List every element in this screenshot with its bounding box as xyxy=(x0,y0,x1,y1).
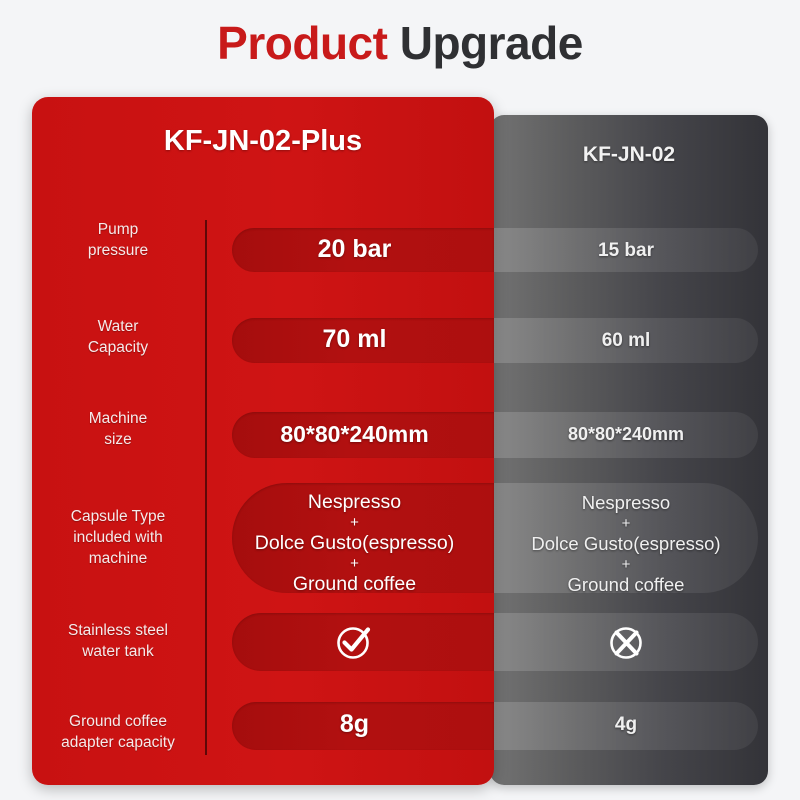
row-value-new: 80*80*240mm xyxy=(215,421,494,448)
row-value-new: Nespresso + Dolce Gusto(espresso) + Grou… xyxy=(215,490,494,596)
page-title: Product Upgrade xyxy=(0,16,800,70)
row-label: Machine size xyxy=(34,408,202,450)
label-column-divider xyxy=(205,220,207,755)
row-label: Stainless steel water tank xyxy=(34,620,202,662)
row-label: Pump pressure xyxy=(34,219,202,261)
old-model-title: KF-JN-02 xyxy=(490,143,768,167)
row-value-old: 15 bar xyxy=(494,240,758,262)
page-title-rest: Upgrade xyxy=(387,17,582,69)
row-label: Ground coffee adapter capacity xyxy=(34,711,202,753)
row-label: Capsule Type included with machine xyxy=(34,506,202,569)
row-value-new: 70 ml xyxy=(215,325,494,354)
row-value-old: Nespresso + Dolce Gusto(espresso) + Grou… xyxy=(492,491,760,597)
new-model-title: KF-JN-02-Plus xyxy=(32,125,494,158)
product-comparison-infographic: Product Upgrade KF-JN-02 KF-JN-02-Plus P… xyxy=(0,0,800,800)
row-value-new: 8g xyxy=(215,710,494,739)
cross-circle-icon xyxy=(604,620,648,664)
page-title-highlight: Product xyxy=(217,17,387,69)
row-value-old: 80*80*240mm xyxy=(494,424,758,445)
row-label: Water Capacity xyxy=(34,316,202,358)
row-value-old: 60 ml xyxy=(494,330,758,352)
check-circle-icon xyxy=(332,620,376,664)
row-value-new: 20 bar xyxy=(215,235,494,264)
row-value-old: 4g xyxy=(494,714,758,736)
